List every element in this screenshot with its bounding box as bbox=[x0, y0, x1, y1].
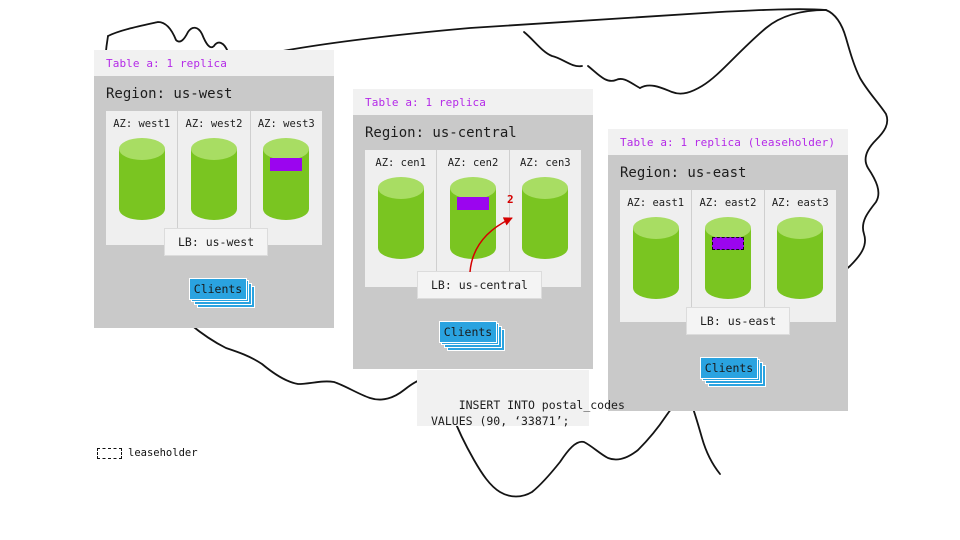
cylinder-icon bbox=[631, 215, 681, 301]
replica-badge-cen2 bbox=[457, 197, 489, 210]
sql-statement-note: INSERT INTO postal_codes VALUES (90, ‘33… bbox=[417, 370, 589, 426]
az-label: AZ: west2 bbox=[186, 118, 243, 130]
region-title: Region: us-central bbox=[353, 115, 593, 150]
node-cylinder-west1[interactable] bbox=[117, 136, 167, 222]
az-cell-east3: AZ: east3 bbox=[765, 190, 836, 322]
az-cell-cen3: AZ: cen3 bbox=[510, 150, 581, 287]
us-outline-lakes-detail bbox=[588, 66, 640, 88]
cylinder-icon bbox=[448, 175, 498, 261]
region-header-us-east: Table a: 1 replica (leaseholder) bbox=[608, 129, 848, 155]
node-cylinder-east1[interactable] bbox=[631, 215, 681, 301]
clients-button[interactable]: Clients bbox=[439, 321, 497, 343]
node-cylinder-east2[interactable] bbox=[703, 215, 753, 301]
region-card-us-west: Table a: 1 replica Region: us-west AZ: w… bbox=[94, 50, 334, 328]
region-header-label: Table a: 1 replica bbox=[106, 57, 322, 70]
az-label: AZ: west1 bbox=[113, 118, 170, 130]
diagram-canvas: Table a: 1 replica Region: us-west AZ: w… bbox=[0, 0, 960, 540]
node-cylinder-cen2[interactable] bbox=[448, 175, 498, 261]
lb-label: LB: us-east bbox=[700, 314, 776, 328]
node-cylinder-cen1[interactable] bbox=[376, 175, 426, 261]
node-cylinder-west3[interactable] bbox=[261, 136, 311, 222]
load-balancer-us-east[interactable]: LB: us-east bbox=[686, 307, 790, 335]
clients-stack-us-west[interactable]: Clients bbox=[189, 278, 247, 300]
lb-label: LB: us-central bbox=[431, 278, 528, 292]
clients-stack-us-central[interactable]: Clients bbox=[439, 321, 497, 343]
dashed-rect-icon bbox=[97, 448, 122, 459]
clients-label: Clients bbox=[444, 325, 492, 339]
us-outline-great-lakes bbox=[640, 10, 826, 94]
us-outline-florida bbox=[690, 400, 720, 474]
cylinder-icon bbox=[703, 215, 753, 301]
replica-badge-east2-leaseholder bbox=[712, 237, 744, 250]
az-label: AZ: cen1 bbox=[375, 157, 426, 169]
clients-label: Clients bbox=[194, 282, 242, 296]
clients-button[interactable]: Clients bbox=[700, 357, 758, 379]
load-balancer-us-west[interactable]: LB: us-west bbox=[164, 228, 268, 256]
region-header-us-central: Table a: 1 replica bbox=[353, 89, 593, 115]
legend: leaseholder bbox=[97, 447, 198, 459]
region-title: Region: us-west bbox=[94, 76, 334, 111]
replica-badge-west3 bbox=[270, 158, 302, 171]
az-strip-us-west: AZ: west1 AZ: west2 bbox=[106, 111, 322, 245]
cylinder-icon bbox=[520, 175, 570, 261]
cylinder-icon bbox=[775, 215, 825, 301]
region-header-us-west: Table a: 1 replica bbox=[94, 50, 334, 76]
az-label: AZ: cen3 bbox=[520, 157, 571, 169]
az-strip-us-east: AZ: east1 AZ: east2 bbox=[620, 190, 836, 322]
region-card-us-east: Table a: 1 replica (leaseholder) Region:… bbox=[608, 129, 848, 411]
lb-label: LB: us-west bbox=[178, 235, 254, 249]
cylinder-icon bbox=[261, 136, 311, 222]
az-strip-us-central: AZ: cen1 AZ: cen2 bbox=[365, 150, 581, 287]
az-cell-west2: AZ: west2 bbox=[178, 111, 250, 245]
clients-label: Clients bbox=[705, 361, 753, 375]
node-cylinder-cen3[interactable] bbox=[520, 175, 570, 261]
node-cylinder-east3[interactable] bbox=[775, 215, 825, 301]
load-balancer-us-central[interactable]: LB: us-central bbox=[417, 271, 542, 299]
region-card-us-central: Table a: 1 replica Region: us-central AZ… bbox=[353, 89, 593, 369]
cylinder-icon bbox=[189, 136, 239, 222]
clients-button[interactable]: Clients bbox=[189, 278, 247, 300]
az-cell-cen1: AZ: cen1 bbox=[365, 150, 437, 287]
clients-stack-us-east[interactable]: Clients bbox=[700, 357, 758, 379]
cylinder-icon bbox=[376, 175, 426, 261]
az-label: AZ: cen2 bbox=[448, 157, 499, 169]
node-cylinder-west2[interactable] bbox=[189, 136, 239, 222]
arrow-step-number: 2 bbox=[507, 193, 514, 206]
cylinder-icon bbox=[117, 136, 167, 222]
az-cell-east1: AZ: east1 bbox=[620, 190, 692, 322]
az-label: AZ: west3 bbox=[258, 118, 315, 130]
legend-label: leaseholder bbox=[128, 447, 198, 459]
az-cell-east2: AZ: east2 bbox=[692, 190, 764, 322]
az-cell-west1: AZ: west1 bbox=[106, 111, 178, 245]
az-label: AZ: east2 bbox=[700, 197, 757, 209]
az-label: AZ: east1 bbox=[627, 197, 684, 209]
az-cell-west3: AZ: west3 bbox=[251, 111, 322, 245]
az-label: AZ: east3 bbox=[772, 197, 829, 209]
us-outline-lakes-detail2 bbox=[524, 32, 582, 66]
region-header-label: Table a: 1 replica (leaseholder) bbox=[620, 136, 836, 149]
az-cell-cen2: AZ: cen2 bbox=[437, 150, 509, 287]
region-header-label: Table a: 1 replica bbox=[365, 96, 581, 109]
region-title: Region: us-east bbox=[608, 155, 848, 190]
